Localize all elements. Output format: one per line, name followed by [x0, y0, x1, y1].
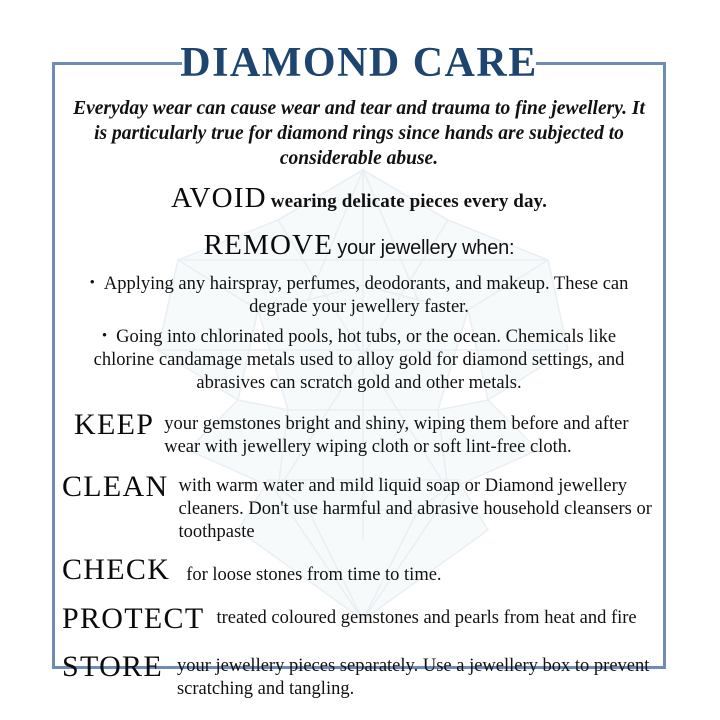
remove-bullet-list: •Applying any hairspray, perfumes, deodo… — [52, 272, 666, 395]
bullet-dot-icon: • — [90, 275, 104, 291]
avoid-row: AVOID wearing delicate pieces every day. — [52, 183, 666, 218]
keep-keyword: KEEP — [62, 411, 164, 439]
remove-keyword: REMOVE — [204, 229, 334, 261]
list-item: •Going into chlorinated pools, hot tubs,… — [52, 325, 666, 395]
intro-paragraph: Everyday wear can cause wear and tear an… — [66, 96, 652, 171]
list-item-text: Applying any hairspray, perfumes, deodor… — [104, 274, 629, 317]
remove-row: REMOVE your jewellery when: — [52, 230, 666, 265]
step-protect: PROTECT treated coloured gemstones and p… — [52, 605, 666, 633]
page-title: DIAMOND CARE — [52, 40, 666, 88]
check-text: for loose stones from time to time. — [186, 556, 666, 587]
step-clean: CLEAN with warm water and mild liquid so… — [52, 473, 666, 544]
store-text: your jewellery pieces separately. Use a … — [177, 653, 666, 701]
poster-content: DIAMOND CARE Everyday wear can cause wea… — [52, 40, 666, 701]
clean-keyword: CLEAN — [62, 473, 179, 501]
diamond-care-poster: DIAMOND CARE Everyday wear can cause wea… — [0, 0, 720, 720]
list-item-text: Going into chlorinated pools, hot tubs, … — [94, 327, 625, 393]
bullet-dot-icon: • — [102, 328, 116, 344]
list-item: •Applying any hairspray, perfumes, deodo… — [52, 272, 666, 319]
avoid-keyword: AVOID — [171, 182, 267, 214]
step-check: CHECK for loose stones from time to time… — [52, 556, 666, 587]
keep-text: your gemstones bright and shiny, wiping … — [164, 411, 666, 459]
clean-text: with warm water and mild liquid soap or … — [179, 473, 667, 544]
store-keyword: STORE — [62, 653, 177, 681]
avoid-text: wearing delicate pieces every day. — [271, 191, 547, 212]
remove-text: your jewellery when: — [337, 237, 514, 259]
protect-keyword: PROTECT — [62, 605, 216, 633]
step-store: STORE your jewellery pieces separately. … — [52, 653, 666, 701]
step-keep: KEEP your gemstones bright and shiny, wi… — [52, 411, 666, 459]
check-keyword: CHECK — [62, 556, 186, 584]
protect-text: treated coloured gemstones and pearls fr… — [216, 605, 666, 630]
